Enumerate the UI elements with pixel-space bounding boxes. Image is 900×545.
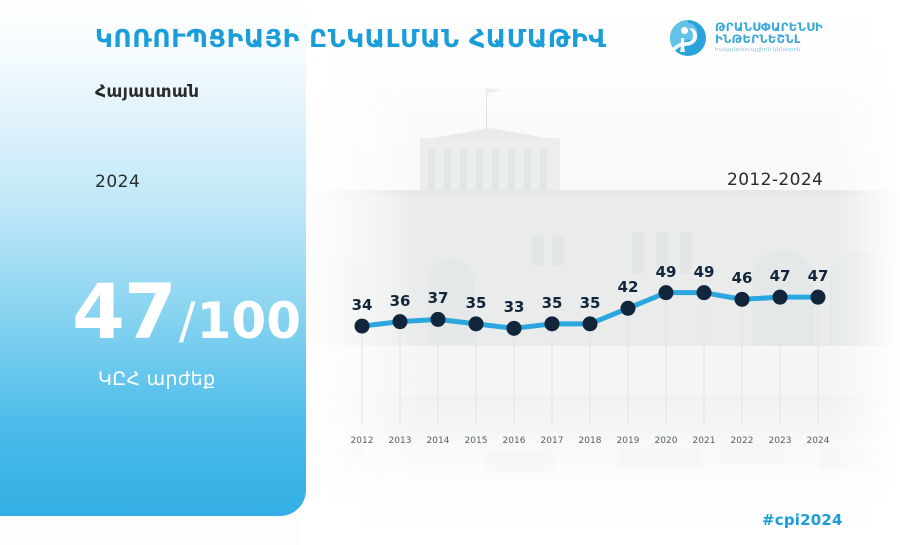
chart-x-tick-label: 2023 xyxy=(769,436,792,446)
chart-x-tick-label: 2014 xyxy=(427,436,450,446)
page-subtitle: Հայաստան xyxy=(95,82,199,102)
chart-x-tick-label: 2012 xyxy=(351,436,374,446)
chart-data-point xyxy=(393,314,408,329)
chart-point-label: 36 xyxy=(390,292,411,310)
chart-x-tick-label: 2021 xyxy=(693,436,716,446)
chart-data-point xyxy=(735,292,750,307)
score-total: 100 xyxy=(197,299,301,344)
chart-x-tick-label: 2017 xyxy=(541,436,564,446)
chart-x-tick-label: 2024 xyxy=(807,436,830,446)
chart-point-label: 47 xyxy=(770,267,791,285)
score-display: 47 / 100 xyxy=(72,278,301,346)
infographic-canvas: 2024 47 / 100 ԿԸՀ արժեք ԿՈՌՈՒՊՑԻԱՅԻ ԸՆԿԱ… xyxy=(0,0,900,545)
chart-point-label: 42 xyxy=(618,278,639,296)
chart-point-label: 35 xyxy=(580,294,601,312)
chart-svg xyxy=(330,230,890,460)
chart-data-point xyxy=(659,285,674,300)
chart-data-point xyxy=(469,316,484,331)
chart-x-tick-label: 2018 xyxy=(579,436,602,446)
chart-data-point xyxy=(583,316,598,331)
chart-x-tick-label: 2013 xyxy=(389,436,412,446)
chart-point-label: 34 xyxy=(352,296,373,314)
chart-point-label: 35 xyxy=(542,294,563,312)
logo-tagline: հակակոռուպցիոն կենտրոն xyxy=(715,48,823,54)
chart-data-point xyxy=(697,285,712,300)
chart-data-point xyxy=(355,319,370,334)
chart-x-tick-label: 2019 xyxy=(617,436,640,446)
cpi-line-chart: 34363735333535424949464747 2012201320142… xyxy=(330,230,890,460)
chart-point-label: 49 xyxy=(694,263,715,281)
chart-point-label: 47 xyxy=(808,267,829,285)
chart-point-label: 35 xyxy=(466,294,487,312)
chart-range-label: 2012-2024 xyxy=(727,170,823,190)
chart-data-point xyxy=(545,316,560,331)
chart-point-label: 46 xyxy=(732,269,753,287)
chart-data-point xyxy=(773,290,788,305)
logo: ԹՐԱՆՍՓԱՐԵՆՍԻ ԻՆԹԵՐՆԵՇՆԼ հակակոռուպցիոն կ… xyxy=(668,18,823,58)
chart-data-point xyxy=(621,301,636,316)
chart-point-label: 49 xyxy=(656,263,677,281)
chart-data-point xyxy=(431,312,446,327)
chart-x-tick-label: 2022 xyxy=(731,436,754,446)
chart-x-tick-label: 2015 xyxy=(465,436,488,446)
chart-point-label: 33 xyxy=(504,298,525,316)
score-panel: 2024 47 / 100 ԿԸՀ արժեք xyxy=(0,0,306,516)
chart-x-tick-label: 2020 xyxy=(655,436,678,446)
chart-data-point xyxy=(811,290,826,305)
chart-point-label: 37 xyxy=(428,289,449,307)
score-caption: ԿԸՀ արժեք xyxy=(98,368,215,390)
logo-line-2: ԻՆԹԵՐՆԵՇՆԼ xyxy=(715,34,823,46)
transparency-international-globe-icon xyxy=(668,18,708,58)
page-title: ԿՈՌՈՒՊՑԻԱՅԻ ԸՆԿԱԼՄԱՆ ՀԱՄԱԹԻՎ xyxy=(95,24,607,53)
panel-year: 2024 xyxy=(95,172,140,192)
chart-data-point xyxy=(507,321,522,336)
hashtag: #cpi2024 xyxy=(762,511,843,529)
score-slash: / xyxy=(179,299,196,344)
chart-x-tick-label: 2016 xyxy=(503,436,526,446)
score-value: 47 xyxy=(72,278,176,346)
logo-text: ԹՐԱՆՍՓԱՐԵՆՍԻ ԻՆԹԵՐՆԵՇՆԼ հակակոռուպցիոն կ… xyxy=(715,22,823,53)
